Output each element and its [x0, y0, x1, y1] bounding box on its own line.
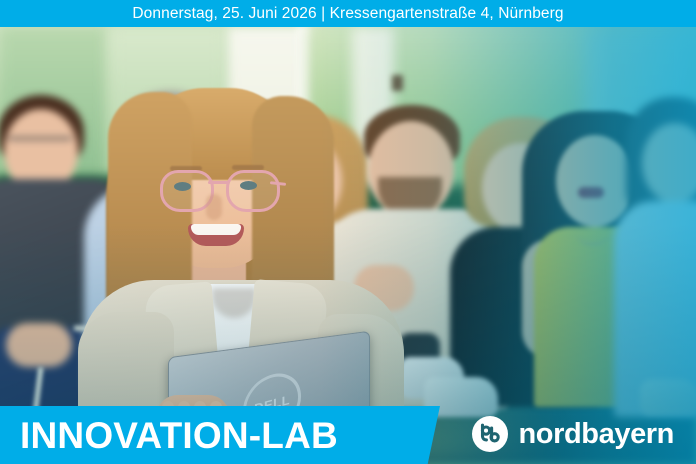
door-handle-upper: [392, 75, 403, 91]
banner-title: INNOVATION-LAB: [20, 417, 338, 454]
nordbayern-mark-icon: [472, 416, 508, 452]
teeth: [191, 224, 241, 235]
shoe-far-right: [640, 379, 696, 415]
lens-right: [226, 170, 280, 212]
event-info-bar: Donnerstag, 25. Juni 2026 | Kressengarte…: [0, 0, 696, 27]
mouth: [188, 224, 244, 246]
innovation-lab-promo-card: Donnerstag, 25. Juni 2026 | Kressengarte…: [0, 0, 696, 464]
nordbayern-logo[interactable]: nordbayern: [472, 416, 674, 452]
event-date-location-text: Donnerstag, 25. Juni 2026 | Kressengarte…: [132, 6, 563, 22]
hands: [6, 323, 72, 367]
event-photo: DELL: [0, 27, 696, 464]
necklace: [576, 221, 610, 245]
nordbayern-wordmark: nordbayern: [518, 420, 674, 449]
glasses-bridge: [208, 181, 228, 184]
person-background-7: [620, 97, 696, 417]
nose: [206, 194, 222, 220]
eyeglasses: [8, 137, 72, 153]
lips: [578, 187, 604, 198]
innovation-lab-banner: INNOVATION-LAB: [0, 406, 440, 464]
